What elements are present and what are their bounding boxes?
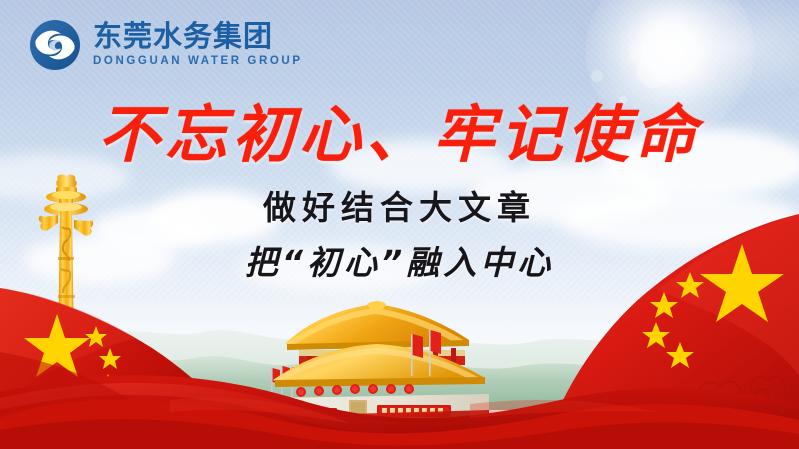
logo-chinese-name: 东莞水务集团 bbox=[93, 21, 303, 52]
lens-flare-icon bbox=[629, 42, 649, 62]
logo-english-name: DONGGUAN WATER GROUP bbox=[93, 54, 303, 69]
lens-flare-icon bbox=[591, 70, 603, 82]
page-title: 不忘初心、牢记使命 bbox=[0, 102, 799, 168]
subtitle-line-1: 做好结合大文章 bbox=[0, 189, 799, 227]
brand-logo[interactable]: 东莞水务集团 DONGGUAN WATER GROUP bbox=[28, 18, 303, 72]
tiananmen-gate-tower bbox=[263, 300, 493, 430]
dongguan-water-group-wave-emblem-icon bbox=[28, 18, 82, 72]
subtitle-line-2: 把“初心”融入中心 bbox=[0, 244, 799, 282]
poster-canvas: 不忘初心、牢记使命 做好结合大文章 把“初心”融入中心 东莞水务集团 DONGG… bbox=[0, 0, 799, 449]
